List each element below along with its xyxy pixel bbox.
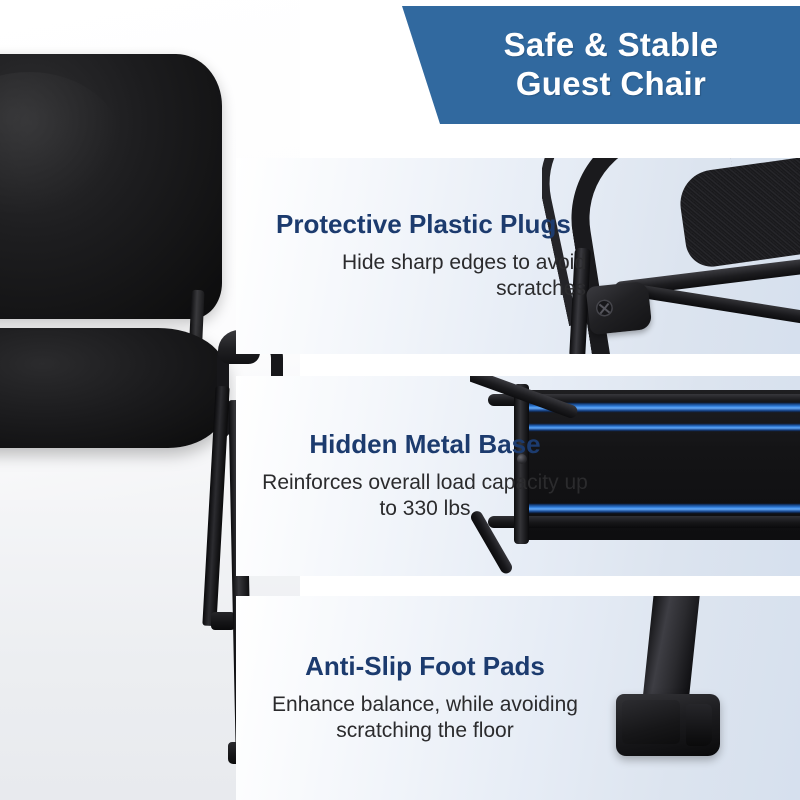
feature-description-1: Hide sharp edges to avoid scratches (258, 250, 592, 303)
banner-title-line-2: Guest Chair (516, 65, 706, 104)
foot-pad-front-face (622, 700, 680, 744)
feature-title-2: Hidden Metal Base (258, 429, 592, 460)
feature-panel-plastic-plugs: Protective Plastic Plugs Hide sharp edge… (236, 158, 800, 354)
feature-panel-foot-pads: Anti-Slip Foot Pads Enhance balance, whi… (236, 596, 800, 800)
feature-text-block-2: Hidden Metal Base Reinforces overall loa… (244, 376, 602, 576)
title-banner: Safe & Stable Guest Chair (392, 6, 800, 124)
feature-text-block-3: Anti-Slip Foot Pads Enhance balance, whi… (244, 596, 602, 800)
backrest-highlight (0, 72, 122, 218)
feature-description-3: Enhance balance, while avoiding scratchi… (258, 692, 592, 745)
feature-panel-metal-base: Hidden Metal Base Reinforces overall loa… (236, 376, 800, 576)
feature-title-1: Protective Plastic Plugs (258, 209, 592, 240)
chair-rear-foot-pad (211, 612, 235, 630)
anti-slip-foot-pad (616, 694, 720, 756)
banner-title-line-1: Safe & Stable (504, 26, 719, 65)
foot-pad-closeup-photo (570, 596, 800, 800)
chair-seat-cushion (0, 328, 228, 448)
chair-backrest (0, 54, 222, 319)
foot-pad-side-notch (686, 704, 712, 746)
feature-text-block-1: Protective Plastic Plugs Hide sharp edge… (244, 158, 602, 354)
feature-description-2: Reinforces overall load capacity up to 3… (258, 470, 592, 523)
product-feature-infographic: Safe & Stable Guest Chair Protective Pla… (0, 0, 800, 800)
feature-title-3: Anti-Slip Foot Pads (258, 651, 592, 682)
